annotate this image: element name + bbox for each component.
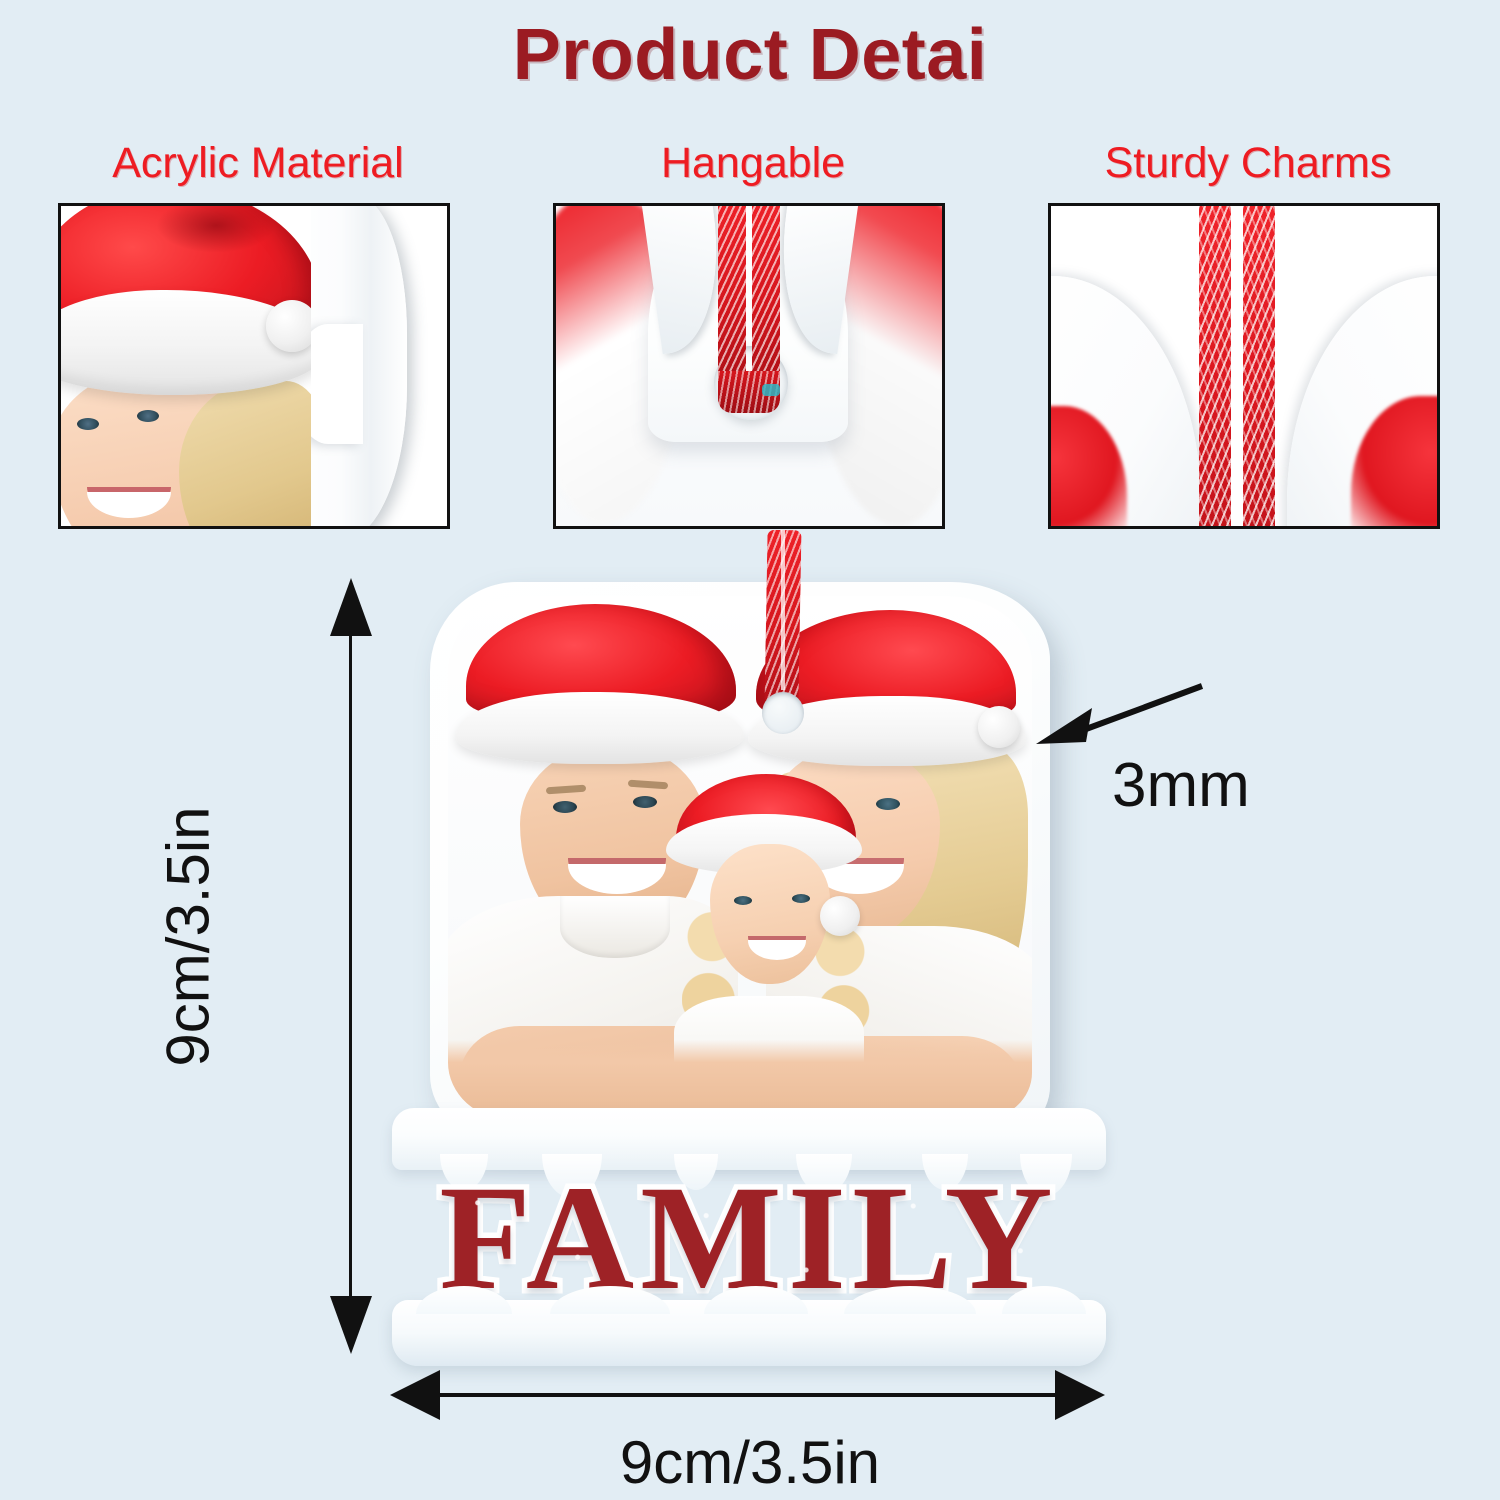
feature-label-sturdy-charms: Sturdy Charms xyxy=(1048,140,1448,187)
height-label: 9cm/3.5in xyxy=(154,727,223,1147)
cord-strand-right xyxy=(752,203,780,391)
height-arrow-line xyxy=(349,612,352,1302)
feature-panel-sturdy-charms: Sturdy Charms xyxy=(1048,140,1448,529)
thickness-label: 3mm xyxy=(1112,750,1250,821)
feature-label-hangable: Hangable xyxy=(553,140,953,187)
feature-panel-hangable: Hangable xyxy=(553,140,953,529)
page-title: Product Detai xyxy=(0,14,1500,96)
snow-bottom-bank xyxy=(392,1300,1106,1366)
woman-santa-photo xyxy=(61,206,311,526)
cord-strand-right xyxy=(1243,203,1275,529)
cord-strand-left xyxy=(1199,203,1231,529)
acrylic-closeup-photo xyxy=(58,203,450,529)
red-cord-closeup-photo xyxy=(1048,203,1440,529)
feature-panels: Acrylic Material Hangable xyxy=(0,140,1500,560)
width-arrow-head-right xyxy=(1055,1370,1105,1420)
width-label: 9cm/3.5in xyxy=(0,1428,1500,1497)
family-santa-hats-photo xyxy=(448,596,1032,1120)
feature-panel-acrylic-material: Acrylic Material xyxy=(58,140,458,529)
ornament-preview: FAMILY xyxy=(0,530,1500,1410)
thickness-arrow-icon xyxy=(1030,680,1205,760)
height-arrow-head-bottom xyxy=(330,1296,372,1354)
ornament-hang-hole xyxy=(762,692,804,734)
hanging-ribbon-split xyxy=(781,530,785,690)
hanging-hole-closeup-photo xyxy=(553,203,945,529)
cord-strand-left xyxy=(718,203,746,391)
feature-label-acrylic-material: Acrylic Material xyxy=(58,140,458,187)
width-arrow-line xyxy=(418,1393,1078,1397)
